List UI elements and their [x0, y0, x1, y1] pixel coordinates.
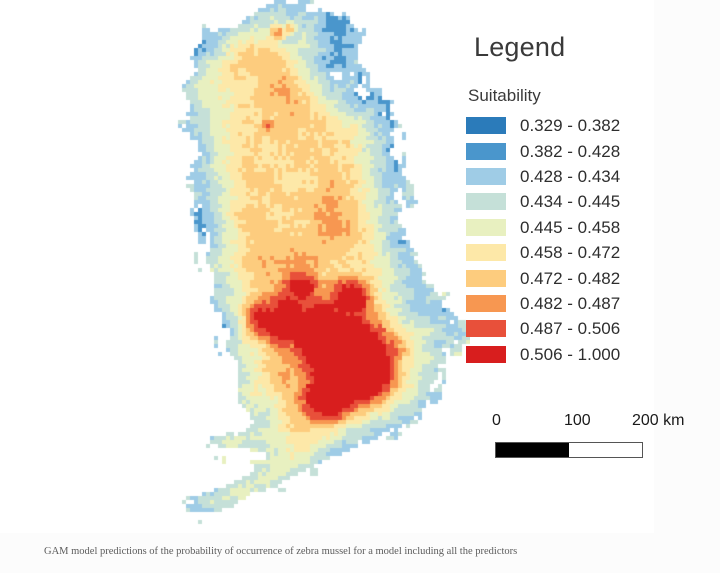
legend-color-swatch [466, 193, 506, 210]
scale-bar-graphic [495, 442, 643, 458]
scale-bar-tick-label: 200 km [632, 412, 684, 430]
legend-item-label: 0.434 - 0.445 [520, 193, 620, 210]
legend-item: 0.482 - 0.487 [466, 291, 656, 316]
legend-item: 0.428 - 0.434 [466, 164, 656, 189]
legend-item: 0.382 - 0.428 [466, 138, 656, 163]
legend-item-label: 0.506 - 1.000 [520, 346, 620, 363]
legend-item-label: 0.329 - 0.382 [520, 117, 620, 134]
figure-panel: Legend Suitability 0.329 - 0.3820.382 - … [0, 0, 654, 533]
legend-item: 0.458 - 0.472 [466, 240, 656, 265]
legend-item-label: 0.428 - 0.434 [520, 168, 620, 185]
legend: Legend Suitability 0.329 - 0.3820.382 - … [466, 34, 656, 367]
legend-item: 0.329 - 0.382 [466, 113, 656, 138]
legend-item-label: 0.482 - 0.487 [520, 295, 620, 312]
figure-caption: GAM model predictions of the probability… [44, 546, 644, 559]
scale-bar-segment [569, 443, 642, 457]
suitability-raster-map [150, 0, 470, 533]
scale-bar: 0100200 km [492, 412, 662, 434]
legend-color-swatch [466, 143, 506, 160]
scale-bar-segment [496, 443, 569, 457]
legend-color-swatch [466, 117, 506, 134]
legend-item: 0.445 - 0.458 [466, 215, 656, 240]
legend-item: 0.506 - 1.000 [466, 342, 656, 367]
legend-item: 0.434 - 0.445 [466, 189, 656, 214]
legend-color-swatch [466, 219, 506, 236]
legend-color-swatch [466, 346, 506, 363]
legend-color-swatch [466, 244, 506, 261]
legend-item-label: 0.472 - 0.482 [520, 270, 620, 287]
legend-color-swatch [466, 295, 506, 312]
scale-bar-tick-label: 100 [564, 412, 591, 430]
legend-item: 0.472 - 0.482 [466, 265, 656, 290]
scale-bar-labels: 0100200 km [492, 412, 652, 434]
legend-color-swatch [466, 270, 506, 287]
legend-item-label: 0.382 - 0.428 [520, 143, 620, 160]
legend-item-label: 0.458 - 0.472 [520, 244, 620, 261]
legend-item-label: 0.445 - 0.458 [520, 219, 620, 236]
legend-item: 0.487 - 0.506 [466, 316, 656, 341]
scale-bar-tick-label: 0 [492, 412, 501, 430]
legend-item-label: 0.487 - 0.506 [520, 320, 620, 337]
legend-color-swatch [466, 320, 506, 337]
legend-title: Legend [474, 34, 656, 61]
legend-color-swatch [466, 168, 506, 185]
legend-item-list: 0.329 - 0.3820.382 - 0.4280.428 - 0.4340… [466, 113, 656, 367]
legend-subtitle: Suitability [468, 87, 656, 104]
